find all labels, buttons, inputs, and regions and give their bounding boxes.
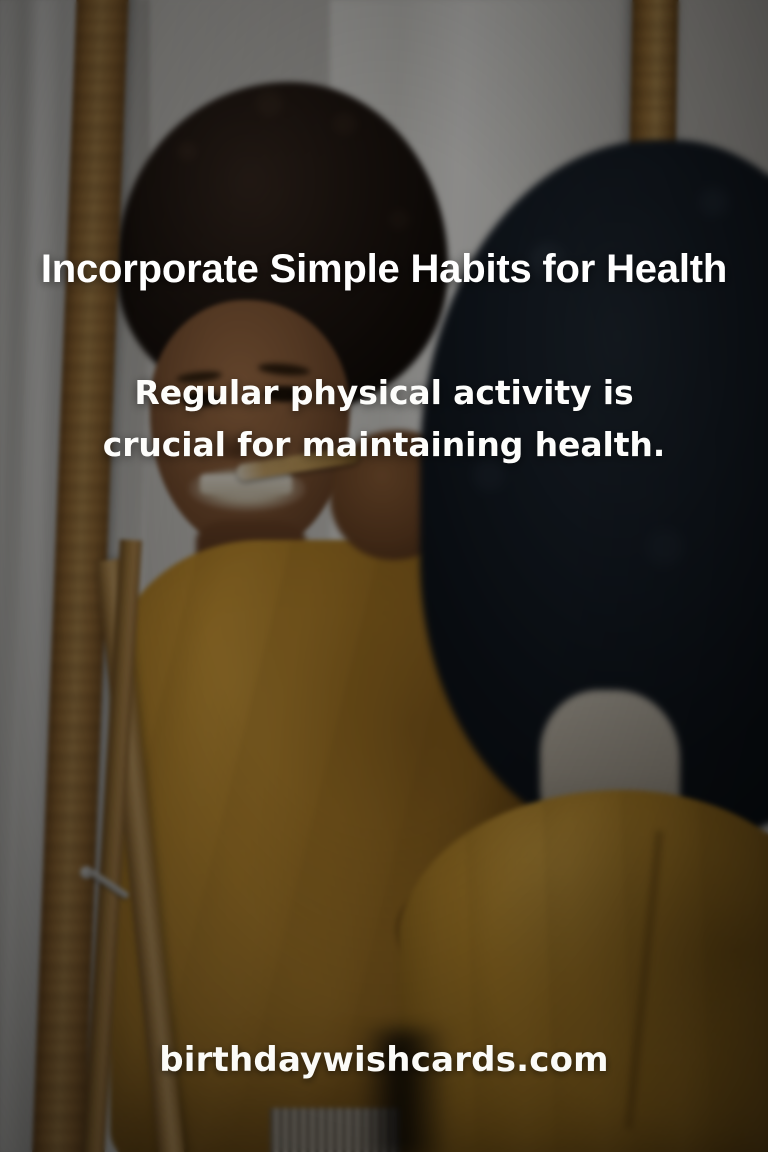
greeting-card: Incorporate Simple Habits for Health Reg…	[0, 0, 768, 1152]
text-content: Incorporate Simple Habits for Health Reg…	[0, 0, 768, 1152]
subtitle: Regular physical activity is crucial for…	[100, 367, 668, 471]
website-url[interactable]: birthdaywishcards.com	[0, 1040, 768, 1080]
page-title: Incorporate Simple Habits for Health	[40, 243, 728, 295]
